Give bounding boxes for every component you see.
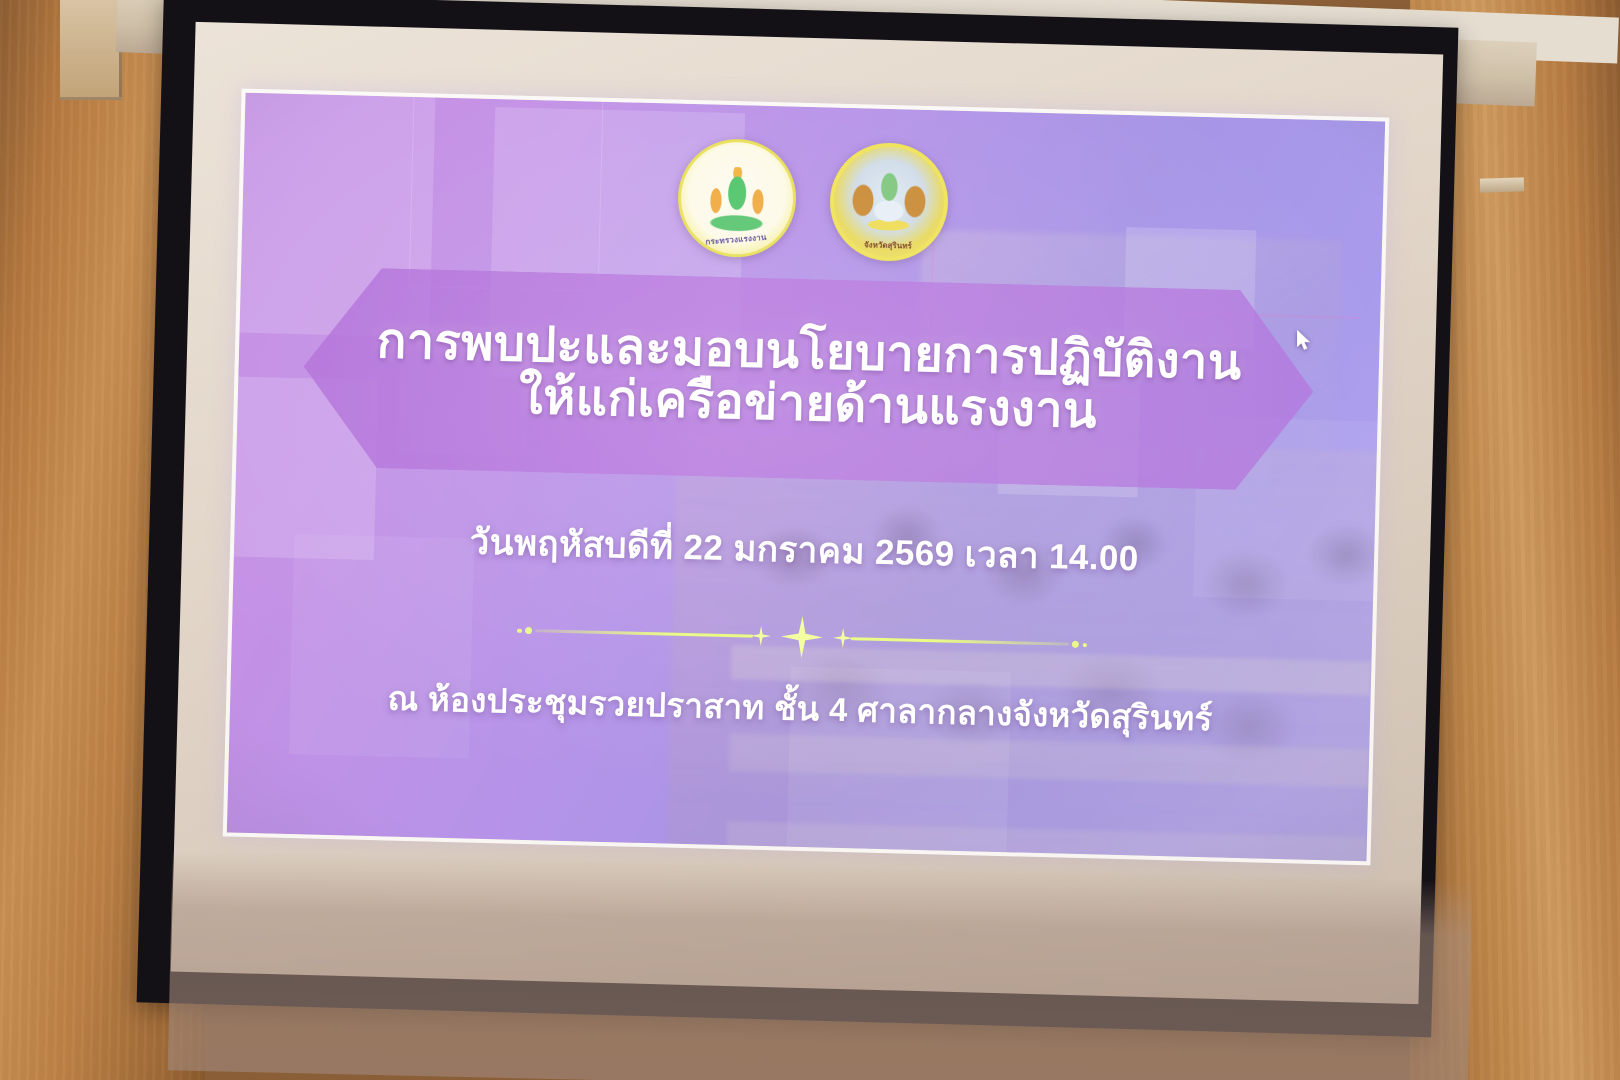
ministry-of-labour-figure-icon — [693, 166, 781, 234]
slide-content: กระทรวงแรงงาน จังหวัดสุรินทร์ การพบปะและ… — [227, 93, 1385, 862]
title-banner: การพบปะและมอบนโยบายการปฏิบัติงาน ให้แก่เ… — [301, 266, 1316, 491]
mouse-cursor — [1297, 330, 1313, 352]
surin-province-seal: จังหวัดสุรินทร์ — [829, 142, 950, 263]
date-line: วันพฤหัสบดีที่ 22 มกราคม 2569 เวลา 14.00 — [469, 515, 1139, 587]
slide-canvas: กระทรวงแรงงาน จังหวัดสุรินทร์ การพบปะและ… — [227, 93, 1385, 862]
emblem-row: กระทรวงแรงงาน จังหวัดสุรินทร์ — [677, 138, 950, 263]
divider-bar-left — [535, 629, 753, 637]
divider-dot-right-2 — [1082, 643, 1087, 648]
sparkle-icon-left — [751, 626, 771, 646]
venue-line: ณ ห้องประชุมรวยปราสาท ชั้น 4 ศาลากลางจัง… — [387, 671, 1213, 745]
surin-province-figure-icon — [842, 164, 936, 236]
screen-lower-shadow — [168, 850, 1473, 1080]
divider-dot-left-1 — [525, 627, 532, 634]
divider-dot-left-2 — [517, 628, 522, 633]
wall-trim-right — [1480, 177, 1524, 192]
sparkle-icon-right — [833, 628, 853, 648]
divider-bar-right — [851, 637, 1069, 645]
ministry-of-labour-emblem: กระทรวงแรงงาน — [677, 138, 798, 259]
projected-slide: กระทรวงแรงงาน จังหวัดสุรินทร์ การพบปะและ… — [223, 89, 1390, 866]
title-line-2: ให้แก่เครือข่ายด้านแรงงาน — [518, 372, 1097, 439]
divider-dot-right-1 — [1072, 641, 1079, 648]
decorative-divider — [513, 615, 1092, 660]
wall-trim-left — [60, 0, 122, 100]
surin-province-caption: จังหวัดสุรินทร์ — [833, 238, 943, 254]
sparkle-icon-center — [780, 615, 823, 658]
conference-room-scene: เลขที่ 01-14-002 — [0, 0, 1620, 1080]
